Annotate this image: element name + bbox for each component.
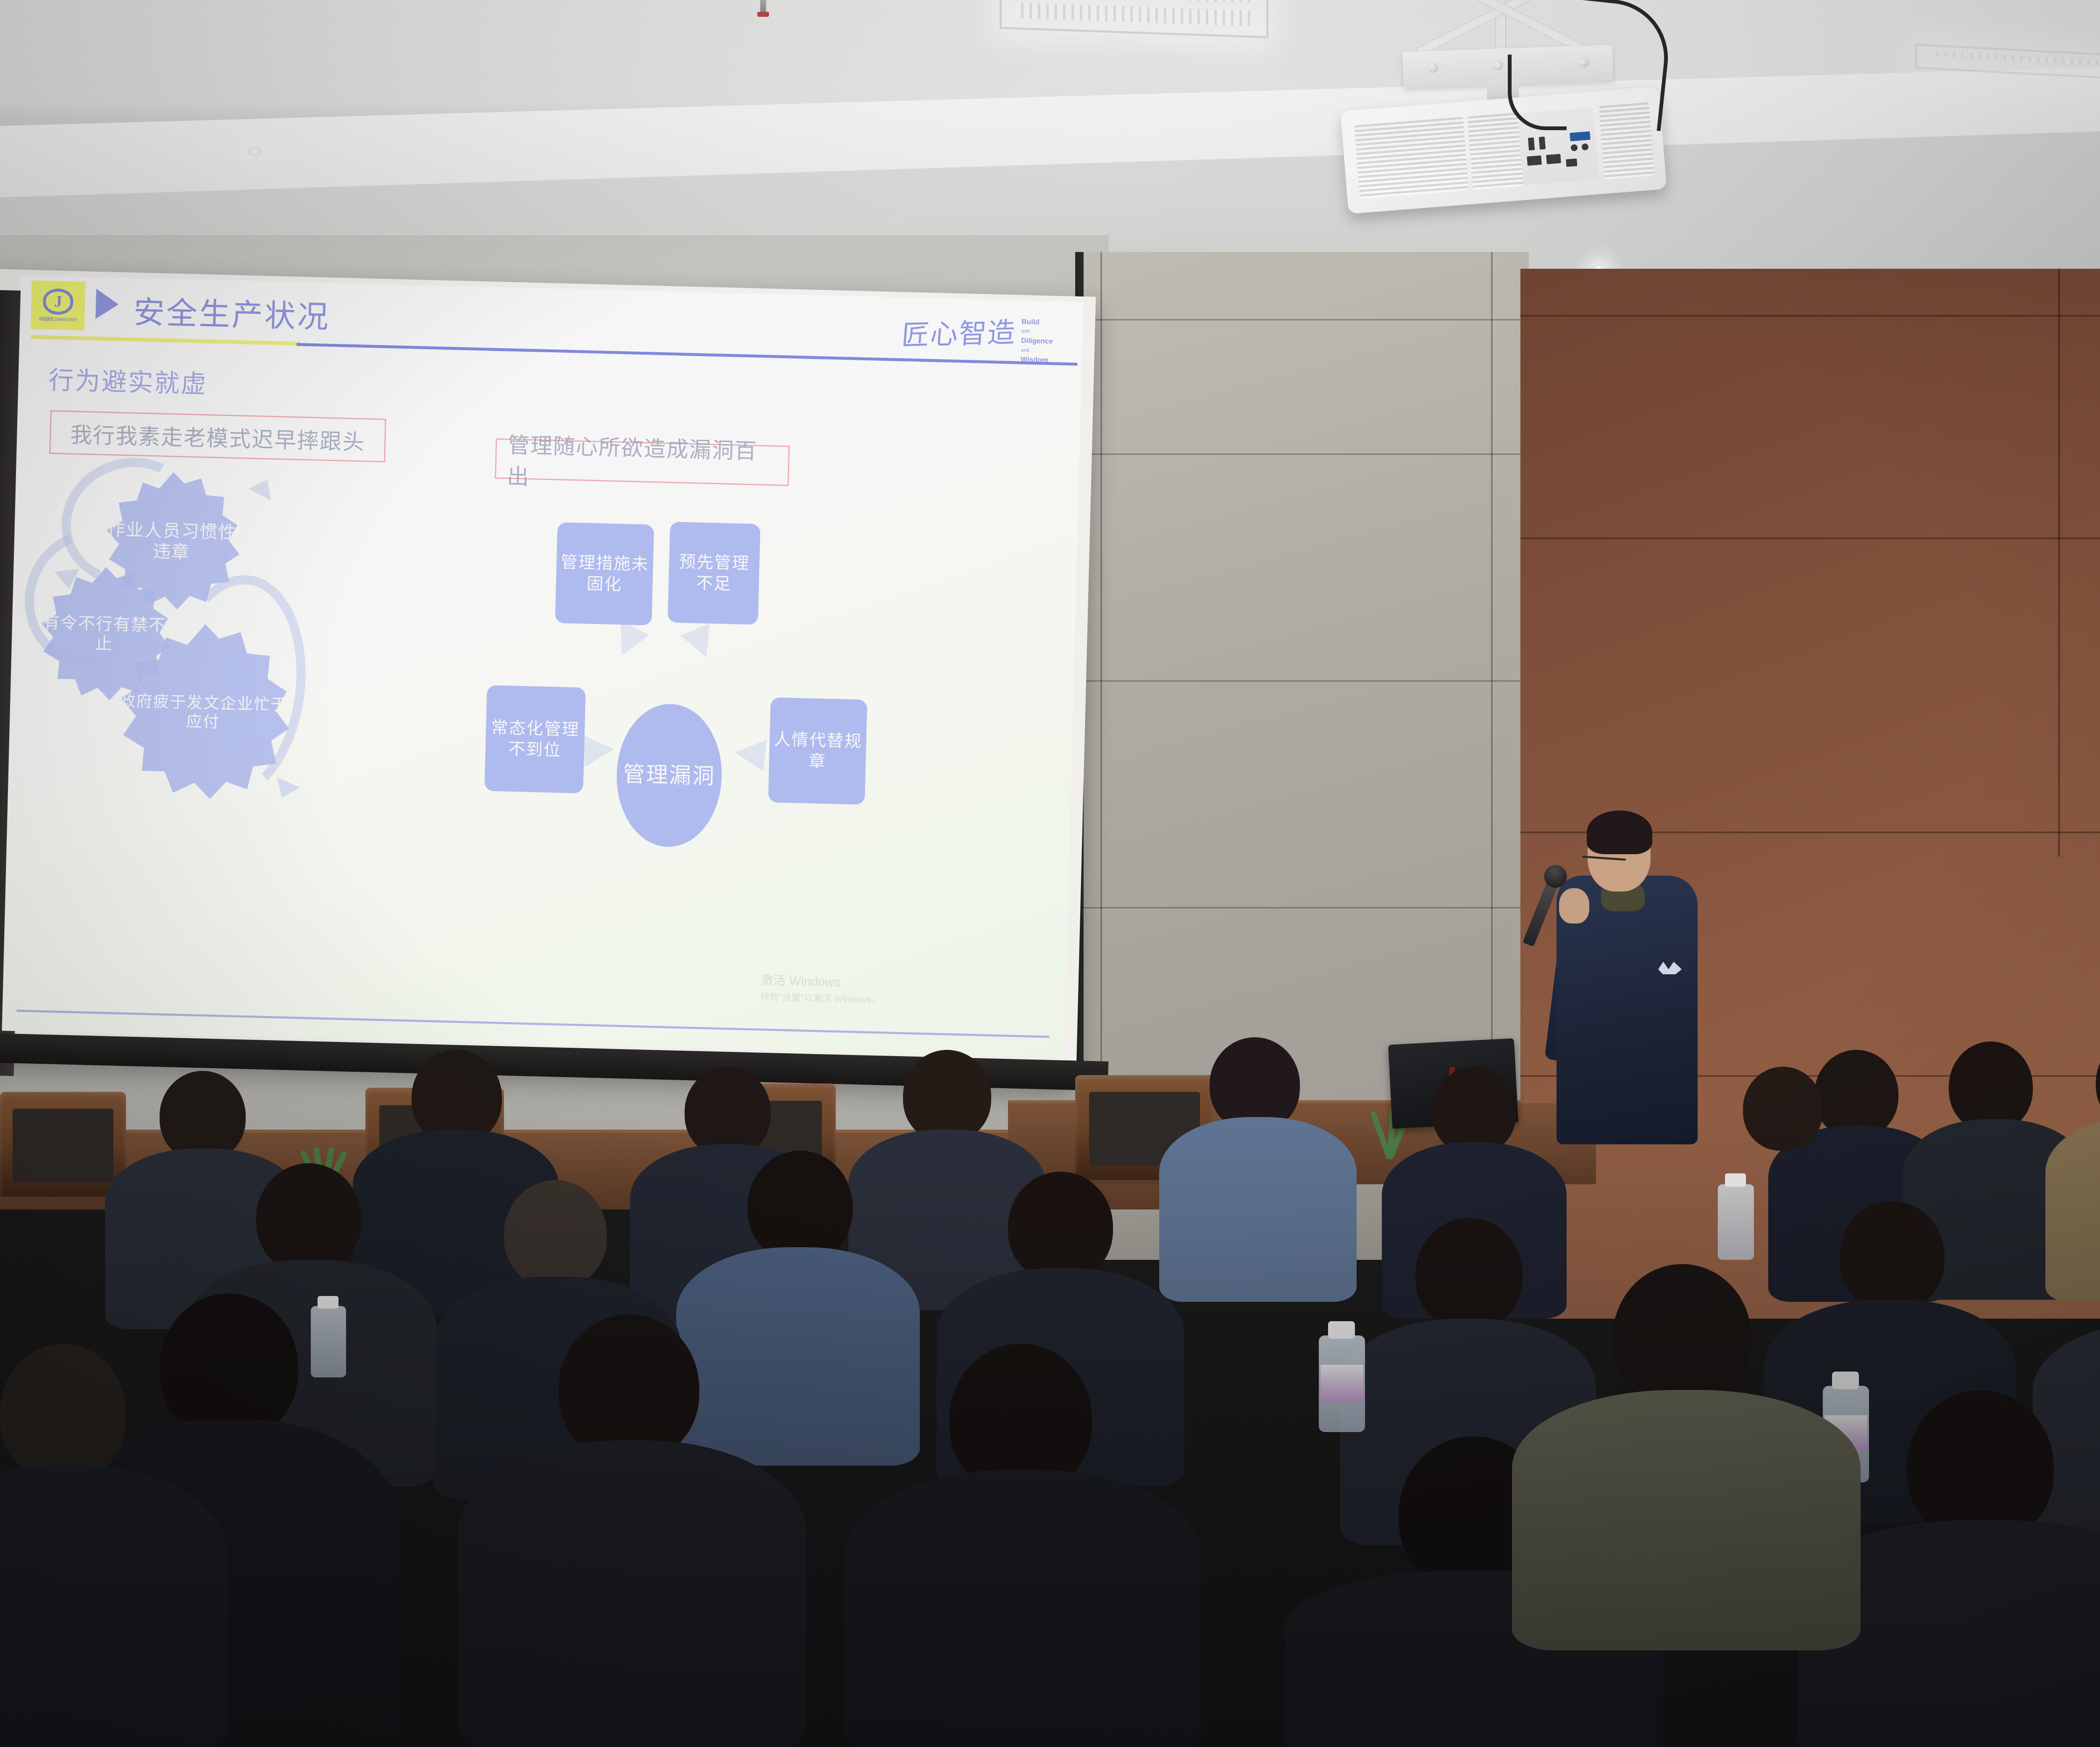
flow-arrow-icon xyxy=(583,733,615,767)
audience-head xyxy=(1949,1041,2033,1132)
bottle-label xyxy=(1320,1365,1363,1401)
ceiling-downlight xyxy=(248,147,262,156)
projector-vent xyxy=(1354,117,1469,199)
audience-shoulders xyxy=(0,1466,227,1747)
conference-room-scene: J 中国建筑 CHINA STATE 安全生产状况 匠心智造 Build wit… xyxy=(0,0,2100,1747)
water-bottle[interactable] xyxy=(311,1306,346,1377)
gear-label: 作业人员习惯性违章 xyxy=(102,519,241,564)
bottle-cap xyxy=(318,1296,339,1309)
audience-head xyxy=(1432,1067,1516,1155)
audience-shoulders xyxy=(1512,1390,1861,1650)
header-arrow-icon xyxy=(95,289,119,320)
audience-head xyxy=(903,1050,991,1142)
audience-head xyxy=(504,1180,607,1288)
company-logo-subtext: 中国建筑 CHINA STATE xyxy=(38,315,77,323)
ceiling xyxy=(0,0,2100,269)
bottle-cap xyxy=(1328,1321,1355,1339)
sprinkler-head xyxy=(760,0,766,14)
presentation-slide[interactable]: J 中国建筑 CHINA STATE 安全生产状况 匠心智造 Build wit… xyxy=(2,275,1083,1057)
brand-logo: 匠心智造 Build with Diligence and Wisdom xyxy=(901,310,1054,366)
slide-subtitle: 行为避实就虚 xyxy=(48,360,208,401)
slide-footer-rule xyxy=(17,1010,1050,1038)
gear-shape: 作业人员习惯性违章 xyxy=(101,470,243,612)
gear-label: 政府疲于发文企业忙于应付 xyxy=(115,691,292,733)
bottle-cap xyxy=(1725,1173,1746,1187)
flow-box-top-right: 预先管理不足 xyxy=(668,522,761,624)
audience-head xyxy=(256,1163,361,1273)
conference-chair[interactable] xyxy=(0,1092,126,1197)
audience-head xyxy=(748,1151,853,1262)
audience-shoulders xyxy=(844,1470,1201,1747)
brand-tagline-word: Diligence xyxy=(1021,335,1053,347)
company-logo-badge: J 中国建筑 CHINA STATE xyxy=(31,281,86,331)
flow-arrow-icon xyxy=(608,621,650,662)
brand-name-cn: 匠心智造 xyxy=(900,310,1018,354)
brand-tagline-en: Build with Diligence and Wisdom xyxy=(1021,313,1054,366)
callout-box-right: 管理随心所欲造成漏洞百出 xyxy=(495,438,790,486)
slide-section-title: 安全生产状况 xyxy=(133,287,331,337)
gear-label: 有令不行有禁不止 xyxy=(37,613,172,656)
brand-tagline-word: with xyxy=(1021,328,1053,336)
callout-text: 我行我素走老模式迟早摔跟头 xyxy=(70,417,366,456)
audience-head xyxy=(160,1071,246,1161)
audience-head xyxy=(1613,1264,1751,1410)
flow-box-top-left: 管理措施未固化 xyxy=(555,522,654,626)
audience-shoulders xyxy=(458,1440,806,1747)
company-logo-icon: J xyxy=(43,288,74,315)
callout-text: 管理随心所欲造成漏洞百出 xyxy=(507,427,778,497)
audience-head xyxy=(1840,1201,1945,1311)
watermark-line-1: 激活 Windows xyxy=(761,971,882,993)
brand-tagline-word: and xyxy=(1021,346,1053,355)
callout-box-left: 我行我素走老模式迟早摔跟头 xyxy=(49,410,386,462)
water-bottle[interactable] xyxy=(1319,1335,1365,1432)
audience-head xyxy=(685,1067,771,1157)
bottle-cap xyxy=(1832,1372,1859,1389)
audience-head xyxy=(160,1293,298,1440)
gear-arrow-head xyxy=(249,474,279,500)
audience-head xyxy=(1008,1172,1113,1282)
flow-arrow-icon xyxy=(680,623,721,664)
watermark-line-2: 转到"设置"以激活 Windows。 xyxy=(760,990,881,1007)
audience-head xyxy=(1743,1067,1823,1151)
projector-cable xyxy=(1556,0,1674,131)
ceiling-projector xyxy=(1310,0,1688,210)
audience-head xyxy=(1814,1050,1898,1138)
flow-center-node: 管理漏洞 xyxy=(615,703,724,848)
flow-box-left: 常态化管理不到位 xyxy=(484,685,585,793)
audience-head xyxy=(0,1344,126,1482)
windows-activation-watermark: 激活 Windows 转到"设置"以激活 Windows。 xyxy=(760,971,882,1007)
brand-tagline-word: Build xyxy=(1021,316,1053,328)
water-bottle[interactable] xyxy=(1718,1184,1754,1260)
audience-shoulders xyxy=(1159,1117,1357,1302)
flow-box-right: 人情代替规章 xyxy=(768,697,867,805)
projector-vent xyxy=(1467,113,1523,190)
brand-tagline-word: Wisdom xyxy=(1021,354,1053,366)
presenter-hand xyxy=(1559,888,1589,923)
flow-arrow-icon xyxy=(733,736,767,771)
audience-head xyxy=(1415,1218,1522,1330)
audience-shoulders xyxy=(676,1247,920,1466)
header-rule-yellow xyxy=(31,335,300,346)
